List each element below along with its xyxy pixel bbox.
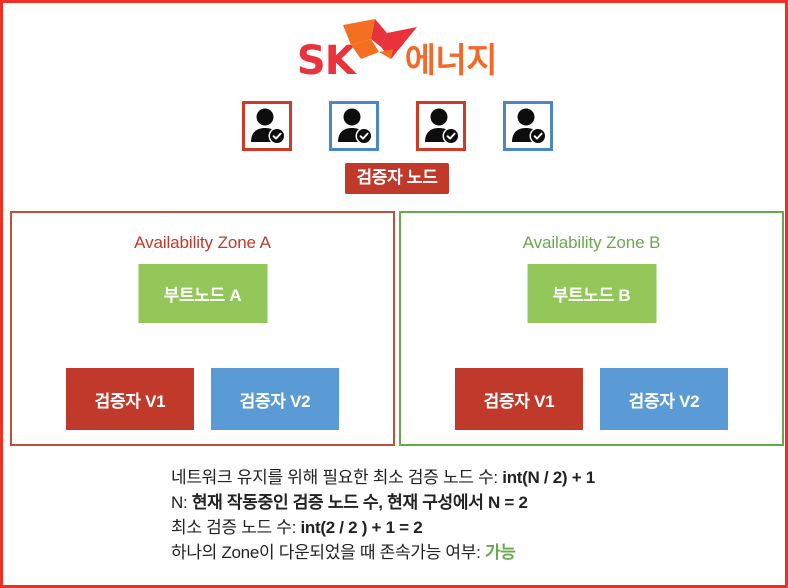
- validator-node-label: 검증자 노드: [345, 163, 448, 194]
- validator-node-icon-2: [329, 101, 379, 151]
- zone-b-validator-v2: 검증자 V2: [600, 368, 728, 430]
- zone-b-boot-node: 부트노드 B: [527, 264, 656, 323]
- validator-node-icon-1: [242, 101, 292, 151]
- availability-zones: Availability Zone A 부트노드 A 검증자 V1 검증자 V2…: [10, 211, 784, 446]
- brand-logo: SK 에너지: [3, 17, 788, 87]
- availability-zone-b: Availability Zone B 부트노드 B 검증자 V1 검증자 V2: [399, 211, 784, 446]
- note-line-3: 최소 검증 노드 수: int(2 / 2 ) + 1 = 2: [171, 515, 731, 540]
- validator-node-icon-3: [416, 101, 466, 151]
- zone-a-validator-v2: 검증자 V2: [211, 368, 339, 430]
- sk-wings-mark-icon: [341, 19, 419, 65]
- zone-b-title: Availability Zone B: [401, 233, 782, 253]
- note-line-2-text: N:: [171, 493, 192, 512]
- notes-block: 네트워크 유지를 위해 필요한 최소 검증 노드 수: int(N / 2) +…: [171, 465, 731, 565]
- validator-node-icon-4: [503, 101, 553, 151]
- zone-a-validator-row: 검증자 V1 검증자 V2: [12, 368, 393, 430]
- note-line-4: 하나의 Zone이 다운되었을 때 존속가능 여부: 가능: [171, 540, 731, 565]
- note-line-1: 네트워크 유지를 위해 필요한 최소 검증 노드 수: int(N / 2) +…: [171, 465, 731, 490]
- note-line-4-text: 하나의 Zone이 다운되었을 때 존속가능 여부:: [171, 543, 485, 562]
- availability-zone-a: Availability Zone A 부트노드 A 검증자 V1 검증자 V2: [10, 211, 395, 446]
- diagram-page: SK 에너지: [0, 0, 788, 588]
- note-line-3-text: 최소 검증 노드 수:: [171, 518, 301, 537]
- note-line-1-formula: int(N / 2) + 1: [502, 468, 595, 487]
- validator-node-label-row: 검증자 노드: [3, 163, 788, 194]
- survivability-result: 가능: [485, 543, 516, 562]
- logo-lockup: SK 에너지: [297, 21, 497, 83]
- note-line-3-formula: int(2 / 2 ) + 1 = 2: [301, 518, 423, 537]
- note-line-2: N: 현재 작동중인 검증 노드 수, 현재 구성에서 N = 2: [171, 490, 731, 515]
- zone-a-boot-node: 부트노드 A: [138, 264, 267, 323]
- note-line-2-formula: 현재 작동중인 검증 노드 수, 현재 구성에서 N = 2: [192, 493, 528, 512]
- zone-a-validator-v1: 검증자 V1: [66, 368, 194, 430]
- validator-node-icon-row: [3, 101, 788, 151]
- note-line-1-text: 네트워크 유지를 위해 필요한 최소 검증 노드 수:: [171, 468, 502, 487]
- zone-b-validator-v1: 검증자 V1: [455, 368, 583, 430]
- zone-a-title: Availability Zone A: [12, 233, 393, 253]
- zone-b-validator-row: 검증자 V1 검증자 V2: [401, 368, 782, 430]
